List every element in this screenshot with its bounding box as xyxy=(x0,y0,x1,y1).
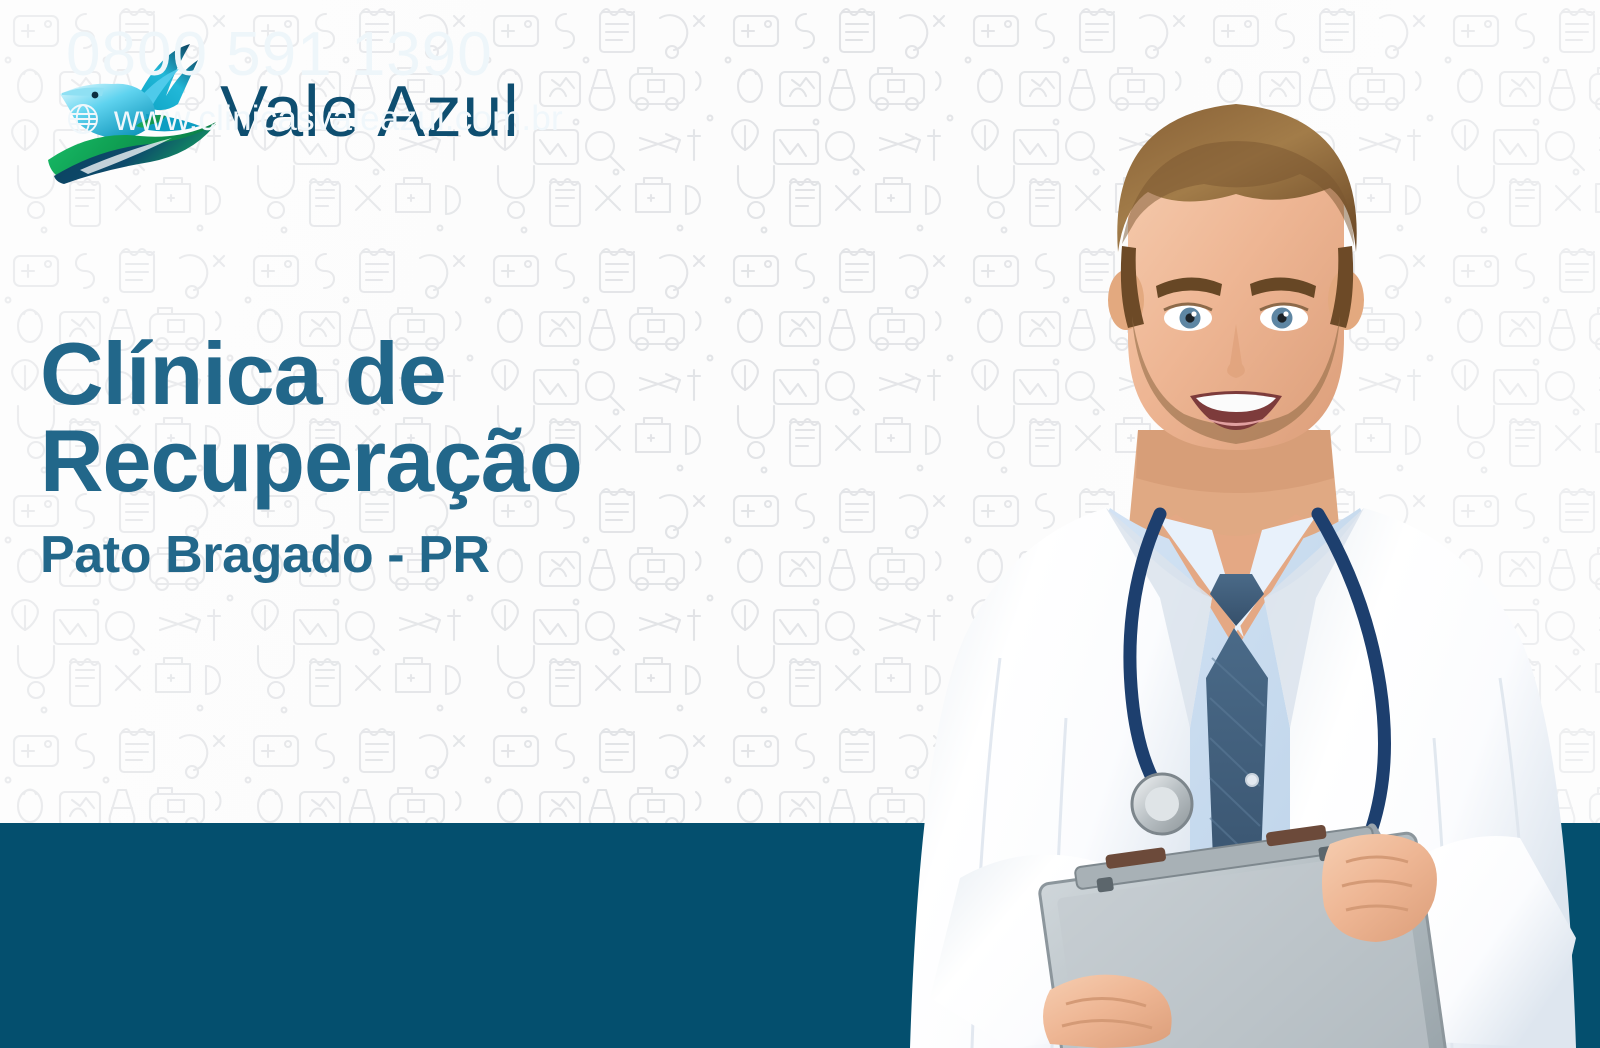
page-title: Clínica de Recuperação xyxy=(40,330,582,504)
globe-icon xyxy=(66,102,100,136)
contact-info: 0800 591 1390 www.clinicasvaleazul.com.b… xyxy=(66,22,563,136)
website-row[interactable]: www.clinicasvaleazul.com.br xyxy=(66,101,563,136)
headline-block: Clínica de Recuperação Pato Bragado - PR xyxy=(40,330,582,583)
website-url[interactable]: www.clinicasvaleazul.com.br xyxy=(114,101,563,136)
clinic-banner: Vale Azul Clínica de Recuperação Pato Br… xyxy=(0,0,1600,1048)
phone-number[interactable]: 0800 591 1390 xyxy=(66,22,563,87)
page-subtitle: Pato Bragado - PR xyxy=(40,528,582,583)
contact-footer-bar xyxy=(0,823,1600,1048)
